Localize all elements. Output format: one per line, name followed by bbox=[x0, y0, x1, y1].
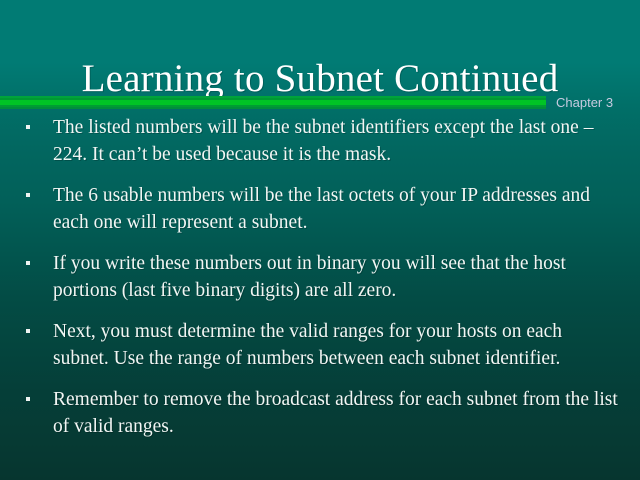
list-item: If you write these numbers out in binary… bbox=[0, 250, 640, 304]
bullet-marker-icon bbox=[26, 193, 30, 197]
list-item: The listed numbers will be the subnet id… bbox=[0, 114, 640, 168]
bullet-marker-icon bbox=[26, 329, 30, 333]
list-item: Next, you must determine the valid range… bbox=[0, 318, 640, 372]
list-item: The 6 usable numbers will be the last oc… bbox=[0, 182, 640, 236]
bullet-list: The listed numbers will be the subnet id… bbox=[0, 114, 640, 454]
list-item-text: Remember to remove the broadcast address… bbox=[53, 386, 618, 440]
list-item-text: If you write these numbers out in binary… bbox=[53, 250, 618, 304]
bullet-marker-icon bbox=[26, 261, 30, 265]
bullet-marker-icon bbox=[26, 397, 30, 401]
list-item-text: Next, you must determine the valid range… bbox=[53, 318, 618, 372]
list-item: Remember to remove the broadcast address… bbox=[0, 386, 640, 440]
chapter-label: Chapter 3 bbox=[556, 95, 613, 111]
list-item-text: The listed numbers will be the subnet id… bbox=[53, 114, 618, 168]
list-item-text: The 6 usable numbers will be the last oc… bbox=[53, 182, 618, 236]
divider-band-bottom bbox=[0, 107, 546, 109]
header-divider-row: Chapter 3 bbox=[0, 96, 640, 114]
divider-rule bbox=[0, 96, 546, 109]
presentation-slide: Learning to Subnet Continued Chapter 3 T… bbox=[0, 0, 640, 480]
bullet-marker-icon bbox=[26, 125, 30, 129]
